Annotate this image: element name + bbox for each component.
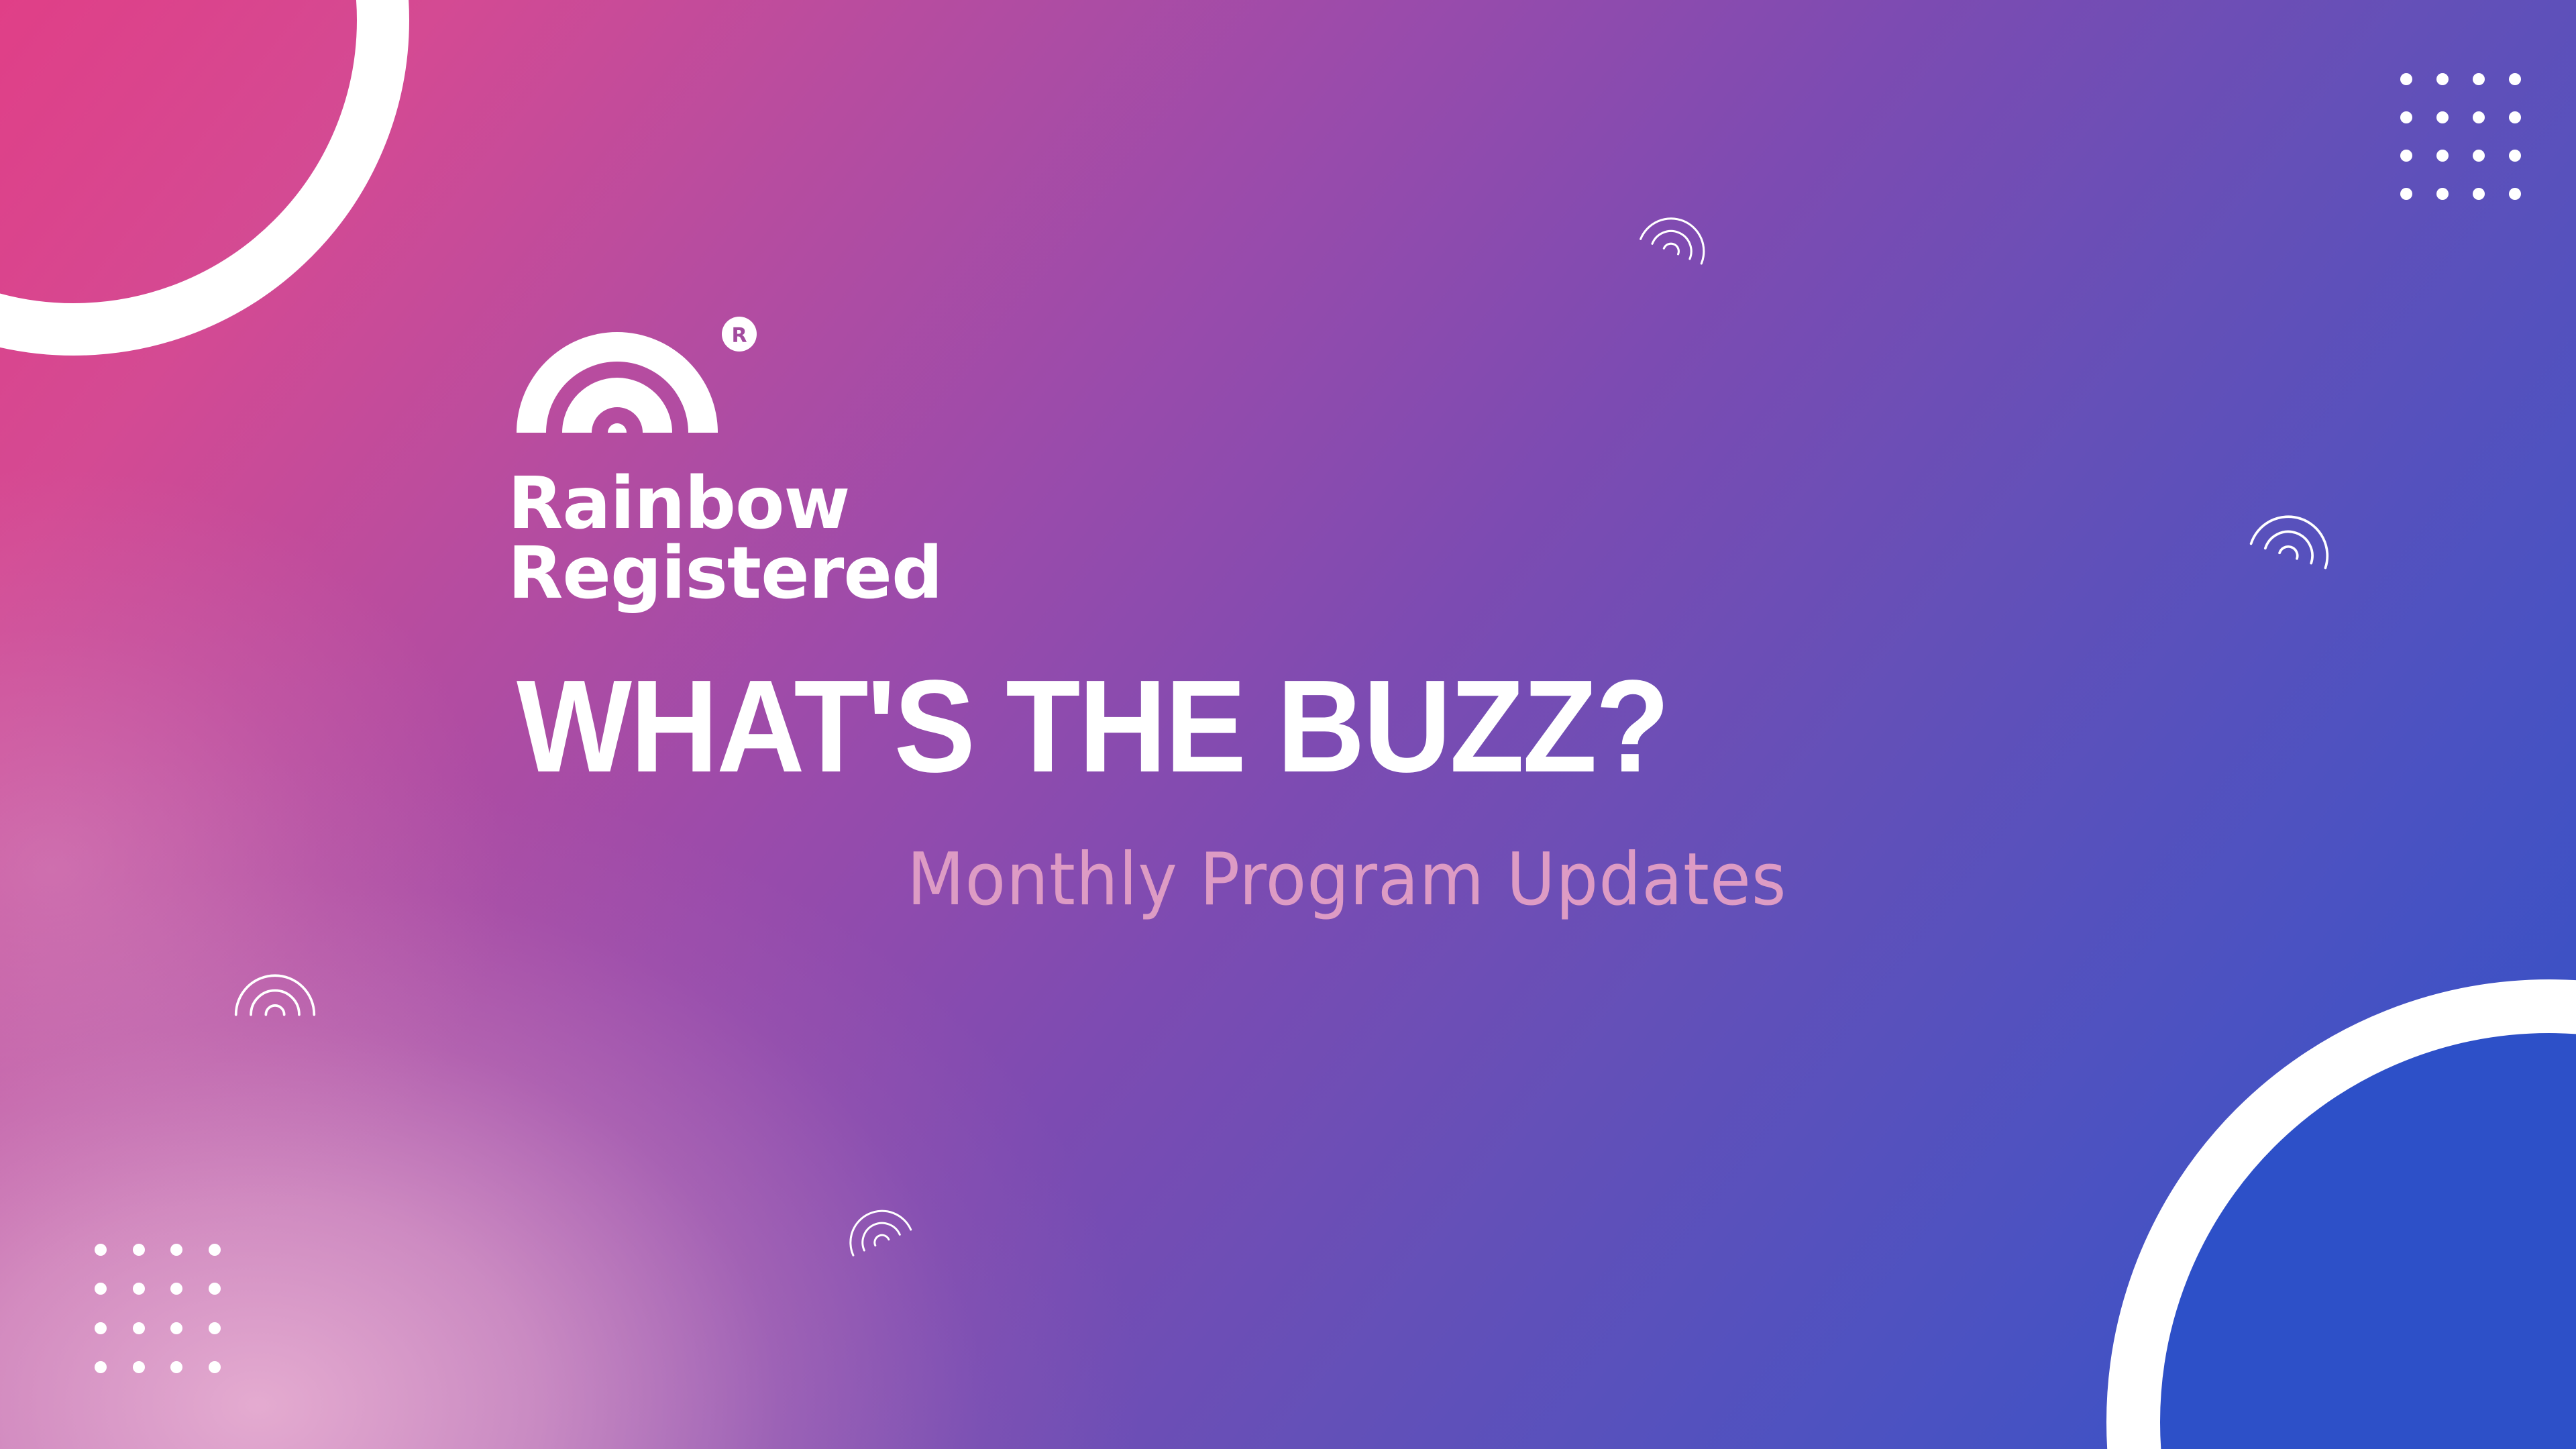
- wordmark-line-2: Registered: [508, 539, 943, 609]
- page-subtitle: Monthly Program Updates: [907, 844, 1786, 916]
- registered-trademark-icon: R: [722, 317, 757, 352]
- hero-content: R Rainbow Registered WHAT'S THE BUZZ? Mo…: [0, 0, 2576, 1449]
- wordmark-line-1: Rainbow: [508, 470, 943, 539]
- rainbow-arc-logo-icon: R: [510, 315, 778, 436]
- presentation-slide: R Rainbow Registered WHAT'S THE BUZZ? Mo…: [0, 0, 2576, 1449]
- svg-text:R: R: [731, 324, 747, 347]
- page-title: WHAT'S THE BUZZ?: [517, 661, 1668, 792]
- brand-wordmark: Rainbow Registered: [508, 470, 943, 609]
